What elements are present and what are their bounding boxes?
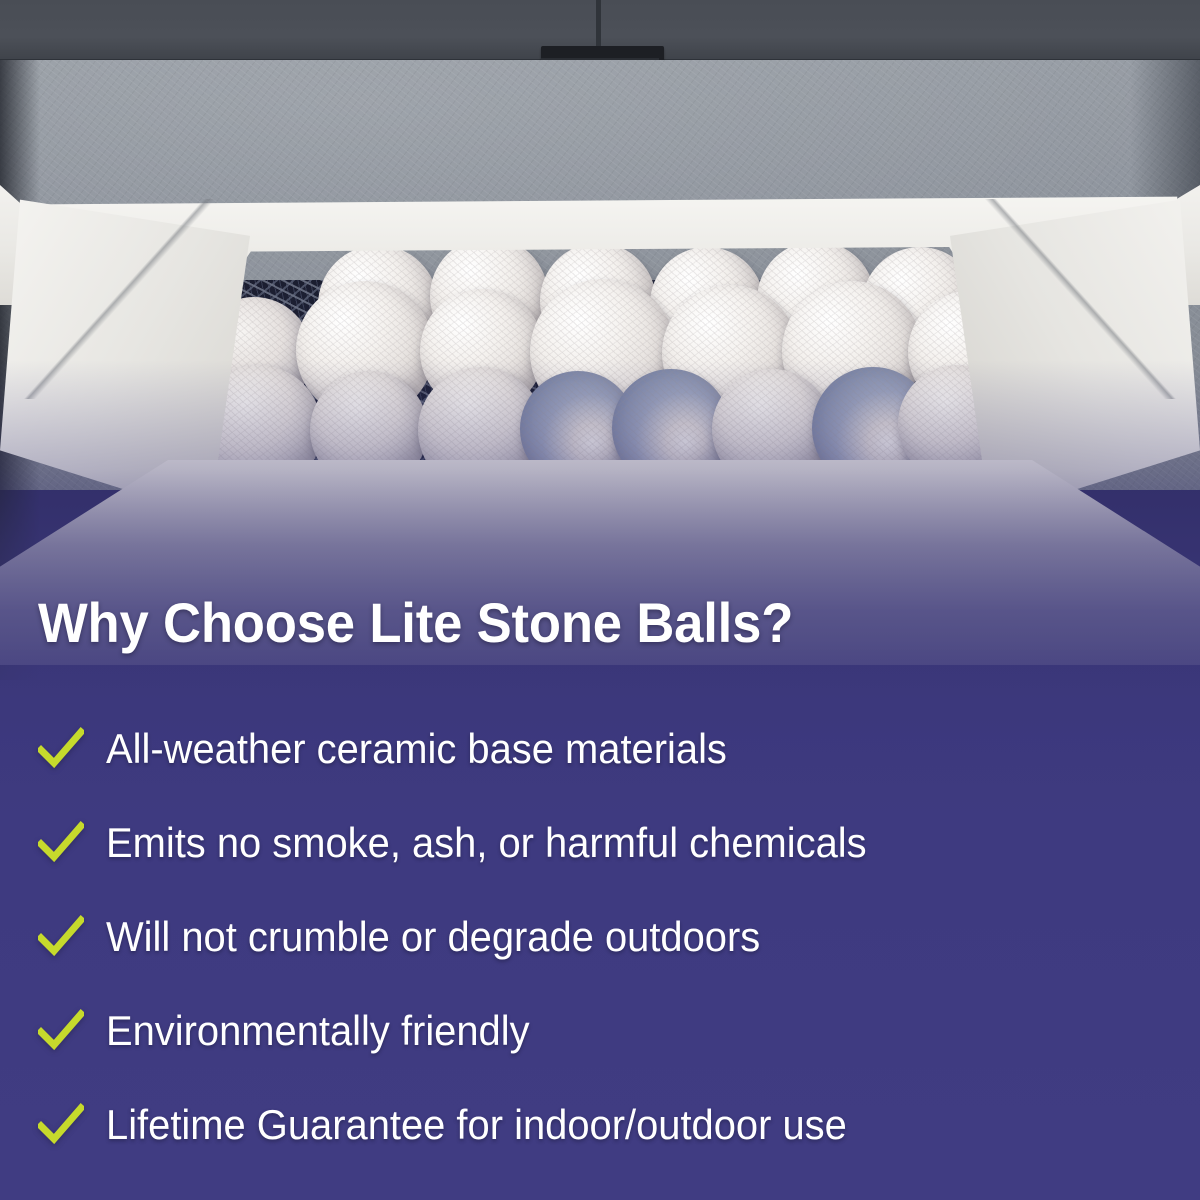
- list-item: Will not crumble or degrade outdoors: [0, 890, 1200, 984]
- list-item: Emits no smoke, ash, or harmful chemical…: [0, 796, 1200, 890]
- check-icon: [38, 726, 84, 772]
- list-item: Lifetime Guarantee for indoor/outdoor us…: [0, 1078, 1200, 1172]
- page-title: Why Choose Lite Stone Balls?: [38, 594, 793, 653]
- check-icon: [38, 914, 84, 960]
- check-icon: [38, 1102, 84, 1148]
- list-item-label: Environmentally friendly: [106, 1008, 530, 1054]
- benefits-list: All-weather ceramic base materials Emits…: [0, 702, 1200, 1172]
- promo-graphic: Why Choose Lite Stone Balls? All-weather…: [0, 0, 1200, 1200]
- text-content: Why Choose Lite Stone Balls? All-weather…: [0, 0, 1200, 1200]
- list-item-label: Lifetime Guarantee for indoor/outdoor us…: [106, 1102, 847, 1148]
- list-item-label: Emits no smoke, ash, or harmful chemical…: [106, 820, 867, 866]
- list-item-label: All-weather ceramic base materials: [106, 726, 727, 772]
- list-item: All-weather ceramic base materials: [0, 702, 1200, 796]
- check-icon: [38, 820, 84, 866]
- list-item-label: Will not crumble or degrade outdoors: [106, 914, 760, 960]
- check-icon: [38, 1008, 84, 1054]
- list-item: Environmentally friendly: [0, 984, 1200, 1078]
